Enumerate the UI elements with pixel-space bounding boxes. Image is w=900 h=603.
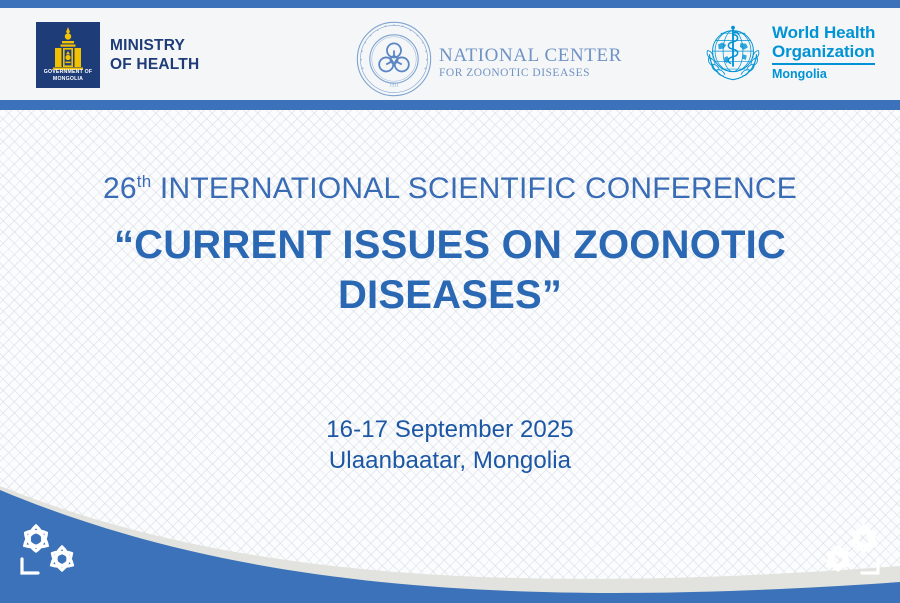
- ministry-name: MINISTRY OF HEALTH: [110, 36, 199, 74]
- mongolian-knot-ornament-right: [806, 519, 886, 581]
- national-center-logo: 1931 NATIONAL CENTER FOR ZOONOTIC DISEAS…: [355, 20, 622, 98]
- emblem-caption-line1: GOVERNMENT OF: [36, 69, 100, 76]
- ministry-of-health-logo: GOVERNMENT OF MONGOLIA MINISTRY OF HEALT…: [36, 22, 199, 88]
- who-name-line2: Organization: [772, 42, 875, 61]
- national-center-name-line2: FOR ZOONOTIC DISEASES: [439, 66, 622, 80]
- who-logo: World Health Organization Mongolia: [702, 22, 875, 84]
- conference-number-suffix: th: [137, 172, 152, 191]
- who-name-line1: World Health: [772, 23, 875, 42]
- conference-subtitle: 26th INTERNATIONAL SCIENTIFIC CONFERENCE: [0, 170, 900, 208]
- title-block: 26th INTERNATIONAL SCIENTIFIC CONFERENCE…: [0, 170, 900, 320]
- conference-title: “CURRENT ISSUES ON ZOONOTIC DISEASES”: [0, 220, 900, 320]
- ministry-name-line2: OF HEALTH: [110, 55, 199, 74]
- bottom-wave-band: [0, 458, 900, 603]
- national-center-wordmark: NATIONAL CENTER FOR ZOONOTIC DISEASES: [439, 39, 622, 80]
- ministry-name-line1: MINISTRY: [110, 36, 199, 55]
- conference-label: INTERNATIONAL SCIENTIFIC CONFERENCE: [160, 172, 797, 205]
- who-country-label: Mongolia: [772, 67, 875, 81]
- conference-title-slide: GOVERNMENT OF MONGOLIA MINISTRY OF HEALT…: [0, 0, 900, 603]
- biohazard-seal-icon: 1931: [355, 20, 433, 98]
- national-center-name-line1: NATIONAL CENTER: [439, 45, 622, 66]
- header-divider-bar: [0, 100, 900, 110]
- who-emblem-icon: [702, 22, 764, 84]
- emblem-caption-line2: MONGOLIA: [36, 76, 100, 83]
- mongolian-knot-ornament-left: [14, 519, 94, 581]
- emblem-caption: GOVERNMENT OF MONGOLIA: [36, 69, 100, 83]
- soyombo-emblem: GOVERNMENT OF MONGOLIA: [36, 22, 100, 88]
- conference-number: 26: [103, 172, 137, 205]
- seal-year: 1931: [389, 83, 399, 88]
- top-accent-bar: [0, 0, 900, 8]
- who-underline-rule: [772, 63, 875, 65]
- event-dates: 16-17 September 2025: [0, 414, 900, 445]
- who-wordmark: World Health Organization Mongolia: [772, 22, 875, 81]
